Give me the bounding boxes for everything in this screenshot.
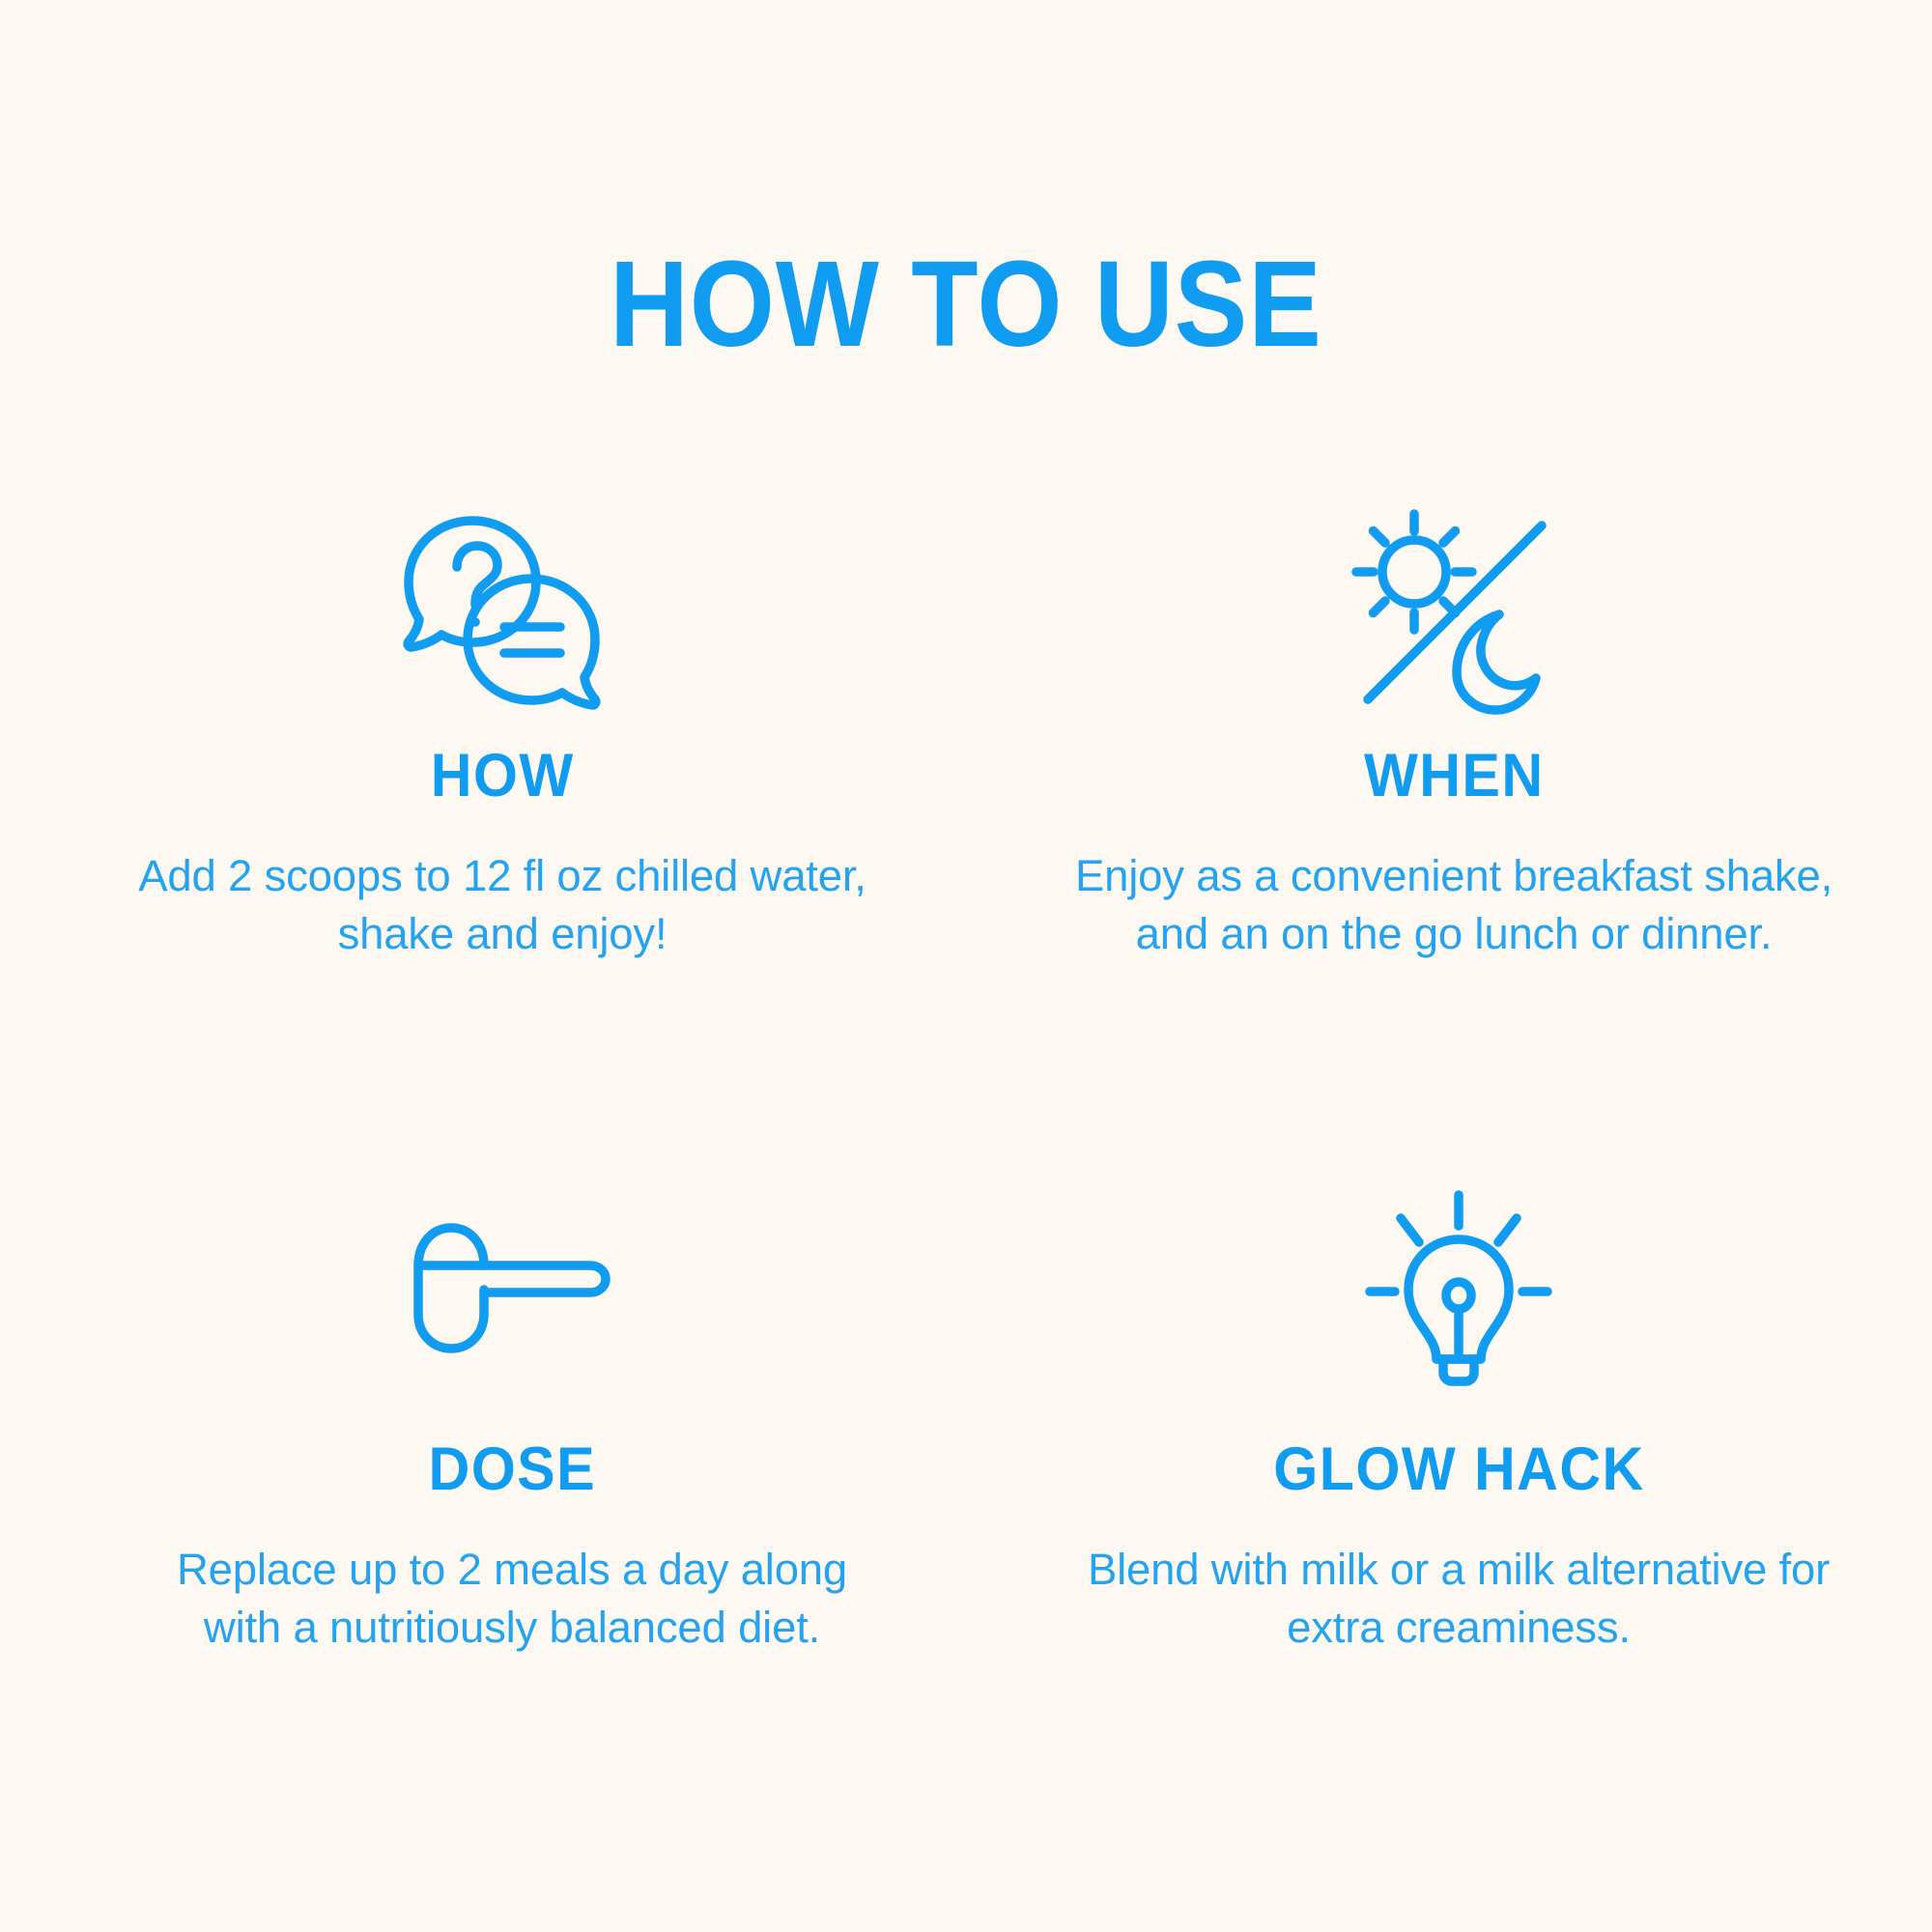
instruction-card-dose: DOSE Replace up to 2 meals a day along w… <box>0 1169 966 1855</box>
instruction-card-how: HOW Add 2 scoops to 12 fl oz chilled wat… <box>0 483 966 1169</box>
instruction-card-glow-hack: GLOW HACK Blend with milk or a milk alte… <box>966 1169 1932 1855</box>
sun-moon-day-night-icon <box>1350 500 1558 723</box>
how-to-use-poster: HOW TO USE HOW Add 2 scoops to 12 fl oz <box>0 0 1932 1932</box>
instruction-card-when: WHEN Enjoy as a convenient breakfast sha… <box>966 483 1932 1169</box>
speech-bubbles-question-icon <box>391 500 613 723</box>
instruction-card-grid: HOW Add 2 scoops to 12 fl oz chilled wat… <box>0 483 1932 1855</box>
card-heading-how: HOW <box>431 746 575 807</box>
card-heading-dose: DOSE <box>428 1439 595 1500</box>
card-body-when: Enjoy as a convenient breakfast shake, a… <box>1048 847 1860 963</box>
measuring-scoop-icon <box>411 1186 613 1389</box>
page-title-container: HOW TO USE <box>0 162 1932 447</box>
card-body-dose: Replace up to 2 meals a day along with a… <box>145 1541 879 1657</box>
card-heading-glow-hack: GLOW HACK <box>1273 1439 1644 1500</box>
card-body-glow-hack: Blend with milk or a milk alternative fo… <box>1053 1541 1864 1657</box>
page-title: HOW TO USE <box>610 243 1322 365</box>
card-body-how: Add 2 scoops to 12 fl oz chilled water, … <box>135 847 869 963</box>
lightbulb-idea-icon <box>1362 1186 1555 1389</box>
card-heading-when: WHEN <box>1364 746 1545 807</box>
